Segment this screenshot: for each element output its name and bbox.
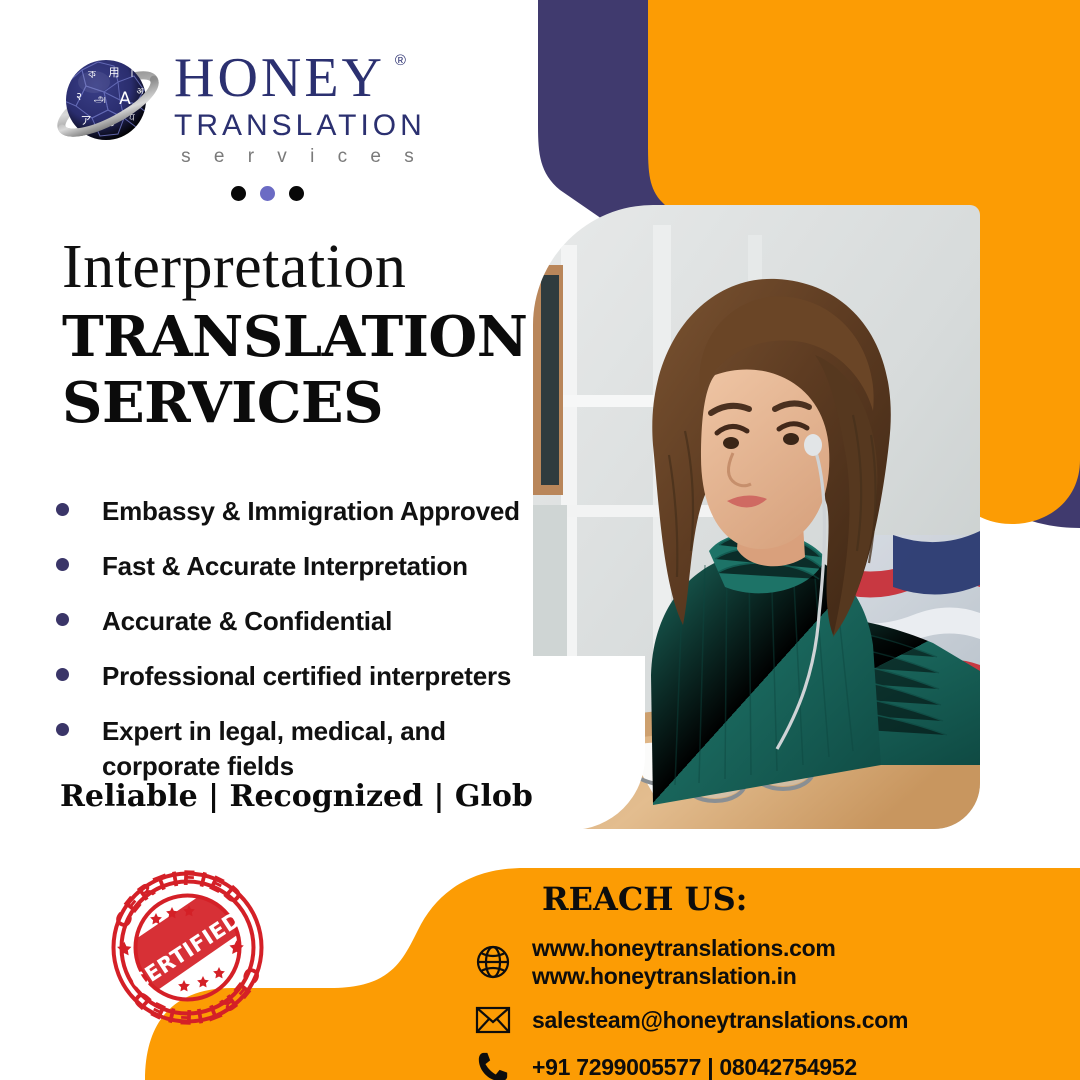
- list-item: Fast & Accurate Interpretation: [56, 549, 536, 585]
- svg-text:|: |: [130, 64, 134, 77]
- dot-2: [260, 186, 275, 201]
- svg-text:२: २: [76, 90, 82, 103]
- svg-text:A: A: [119, 89, 131, 109]
- logo-name-secondary: TRANSLATION: [174, 109, 426, 143]
- bullet-point-icon: [56, 723, 69, 736]
- list-item-label: Accurate & Confidential: [102, 604, 392, 640]
- logo-name-primary: HONEY ®: [174, 52, 385, 105]
- dot-1: [231, 186, 246, 201]
- globe-languages-icon: ক 用 | २ அ A अ ア ఱ ਧ: [52, 48, 164, 160]
- headline-main-line1: TRANSLATION: [62, 304, 532, 370]
- svg-text:用: 用: [109, 66, 120, 79]
- svg-text:ア: ア: [81, 114, 92, 127]
- headline-main: TRANSLATION SERVICES: [62, 304, 532, 436]
- poster-canvas: ক 用 | २ அ A अ ア ఱ ਧ: [0, 0, 1080, 1080]
- phone-icon: [470, 1050, 516, 1080]
- list-item-label: Embassy & Immigration Approved: [102, 494, 520, 530]
- contact-row-website[interactable]: www.honeytranslations.com www.honeytrans…: [470, 934, 1070, 990]
- headline-main-line2: SERVICES: [62, 370, 532, 436]
- contact-email-text[interactable]: salesteam@honeytranslations.com: [532, 1006, 908, 1034]
- bullet-point-icon: [56, 613, 69, 626]
- logo-dots: [52, 186, 472, 201]
- list-item-label: Expert in legal, medical, and corporate …: [102, 714, 446, 786]
- registered-mark-icon: ®: [395, 54, 409, 68]
- contact-row-email[interactable]: salesteam@honeytranslations.com: [470, 1006, 1070, 1034]
- contact-row-phone[interactable]: +91 7299005577 | 08042754952: [470, 1050, 1070, 1080]
- website-line-2[interactable]: www.honeytranslation.in: [532, 962, 835, 990]
- list-item: Expert in legal, medical, and corporate …: [56, 714, 446, 786]
- envelope-icon: [470, 1006, 516, 1034]
- list-item: Accurate & Confidential: [56, 604, 536, 640]
- svg-text:அ: அ: [94, 92, 106, 105]
- globe-icon: [470, 944, 516, 980]
- bullet-point-icon: [56, 668, 69, 681]
- logo-name-tertiary: s e r v i c e s: [174, 146, 426, 168]
- contact-phone-text[interactable]: +91 7299005577 | 08042754952: [532, 1053, 857, 1080]
- bullet-point-icon: [56, 503, 69, 516]
- list-item: Professional certified interpreters: [56, 659, 536, 695]
- contact-block: REACH US: www.honeytranslations.com www.…: [470, 880, 1070, 1080]
- list-item-label: Professional certified interpreters: [102, 659, 511, 695]
- list-item-label: Fast & Accurate Interpretation: [102, 549, 468, 585]
- bullet-point-icon: [56, 558, 69, 571]
- headline-group: Interpretation TRANSLATION SERVICES: [62, 236, 532, 436]
- contact-website-text: www.honeytranslations.com www.honeytrans…: [532, 934, 835, 990]
- website-line-1[interactable]: www.honeytranslations.com: [532, 934, 835, 962]
- certified-stamp-icon: CERTIFIED CERTIFIED CERTIFIED: [106, 866, 269, 1029]
- headline-script: Interpretation: [62, 236, 532, 298]
- list-item: Embassy & Immigration Approved: [56, 494, 536, 530]
- logo-honey-text: HONEY: [174, 47, 385, 109]
- feature-list: Embassy & Immigration Approved Fast & Ac…: [56, 494, 536, 804]
- contact-title: REACH US:: [542, 880, 1070, 918]
- brand-logo: ক 用 | २ அ A अ ア ఱ ਧ: [52, 44, 472, 201]
- dot-3: [289, 186, 304, 201]
- purple-band-lower-cap: [965, 420, 1080, 528]
